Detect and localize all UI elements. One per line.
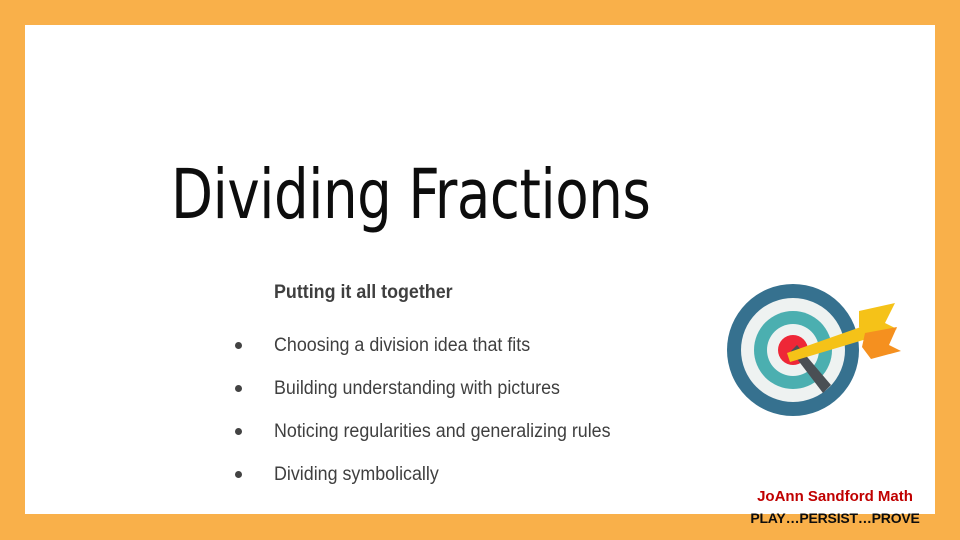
- brand-name: JoAnn Sandford Math: [715, 487, 955, 506]
- slide: Dividing Fractions Putting it all togeth…: [0, 0, 960, 540]
- list-item: Dividing symbolically: [233, 453, 703, 496]
- body-content: Putting it all together Choosing a divis…: [233, 281, 703, 496]
- slide-content-area: Dividing Fractions Putting it all togeth…: [25, 25, 935, 514]
- list-item: Building understanding with pictures: [233, 367, 703, 410]
- bullet-dot-icon: [235, 428, 242, 435]
- subheading: Putting it all together: [274, 281, 677, 305]
- list-item-label: Noticing regularities and generalizing r…: [274, 410, 611, 453]
- brand-footer: JoAnn Sandford Math PLAY…PERSIST…PROVE: [715, 487, 955, 528]
- list-item-label: Building understanding with pictures: [274, 367, 560, 410]
- list-item: Choosing a division idea that fits: [233, 324, 703, 367]
- bullet-dot-icon: [235, 342, 242, 349]
- target-with-arrow-icon: [719, 281, 905, 423]
- list-item-label: Dividing symbolically: [274, 453, 439, 496]
- list-item-label: Choosing a division idea that fits: [274, 324, 530, 367]
- page-title: Dividing Fractions: [171, 156, 650, 234]
- bullet-list: Choosing a division idea that fits Build…: [233, 324, 703, 496]
- bullet-dot-icon: [235, 385, 242, 392]
- brand-tagline: PLAY…PERSIST…PROVE: [715, 509, 955, 528]
- list-item: Noticing regularities and generalizing r…: [233, 410, 703, 453]
- bullet-dot-icon: [235, 471, 242, 478]
